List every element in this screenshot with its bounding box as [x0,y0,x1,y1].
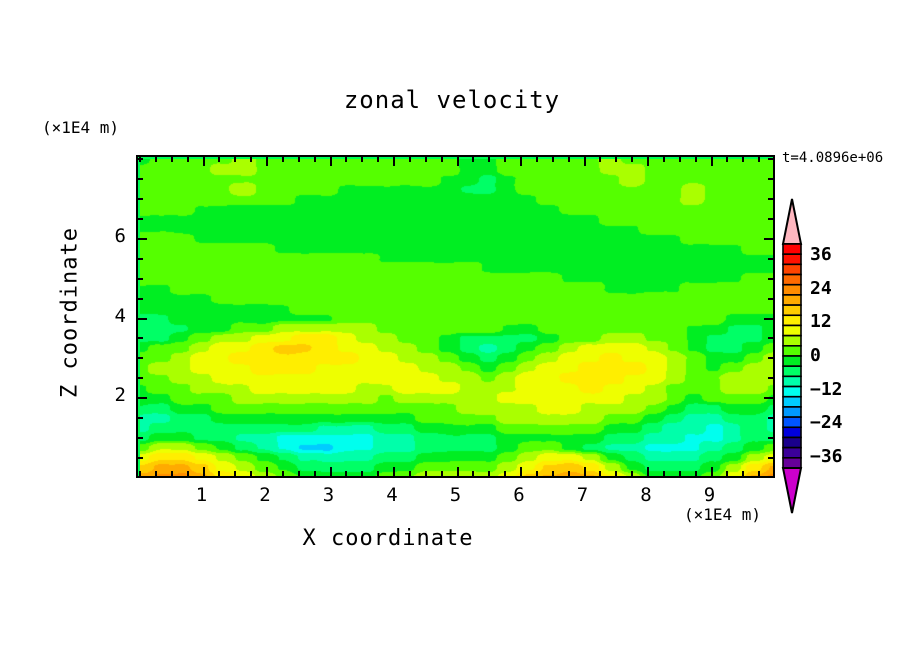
y-tick-label: 6 [96,225,126,247]
y-tick-right [768,258,773,260]
colorbar-tick-label: 12 [810,311,832,332]
y-tick-right [768,218,773,220]
x-tick-bottom [345,471,347,476]
x-tick-bottom [155,471,157,476]
y-tick-right [768,417,773,419]
x-tick-top [250,157,252,162]
x-tick-bottom [599,471,601,476]
colorbar-band [783,336,801,346]
x-tick-bottom [536,471,538,476]
x-tick-top [457,157,459,166]
timestamp-annotation: t=4.0896e+06 [782,150,883,166]
x-tick-bottom [584,467,586,476]
x-tick-top [298,157,300,162]
y-tick-right [768,437,773,439]
x-tick-top [552,157,554,162]
x-tick-label: 5 [436,484,476,506]
colorbar-band [783,346,801,356]
y-tick-left [138,238,147,240]
x-axis-title: X coordinate [0,526,776,551]
colorbar-band [783,295,801,305]
y-tick-left [138,318,147,320]
x-tick-top [599,157,601,162]
y-tick-right [768,178,773,180]
x-tick-top [758,157,760,162]
x-tick-bottom [409,471,411,476]
x-tick-top [472,157,474,162]
x-tick-top [409,157,411,162]
x-tick-top [695,157,697,162]
colorbar-band [783,458,801,468]
y-tick-left [138,258,143,260]
colorbar-tick-label: −24 [810,412,843,433]
x-tick-top [711,157,713,166]
x-tick-top [393,157,395,166]
x-tick-top [663,157,665,162]
x-tick-bottom [520,467,522,476]
x-tick-top [203,157,205,166]
colorbar-svg [781,198,803,514]
x-tick-label: 2 [245,484,285,506]
colorbar-band [783,254,801,264]
y-axis-title: Z coordinate [58,203,83,423]
x-tick-bottom [615,471,617,476]
x-tick-top [266,157,268,166]
x-tick-top [488,157,490,162]
x-tick-bottom [298,471,300,476]
x-tick-top [377,157,379,162]
x-tick-bottom [742,471,744,476]
x-tick-top [647,157,649,166]
y-tick-right [768,377,773,379]
colorbar-band [783,448,801,458]
y-tick-right [768,457,773,459]
x-tick-bottom [679,471,681,476]
x-tick-bottom [457,467,459,476]
colorbar-band [783,376,801,386]
colorbar-band [783,417,801,427]
x-tick-bottom [488,471,490,476]
y-tick-right [768,298,773,300]
x-tick-bottom [139,471,141,476]
y-tick-right [768,158,773,160]
y-tick-left [138,198,143,200]
x-tick-bottom [647,467,649,476]
y-tick-left [138,457,143,459]
colorbar-tick-label: −12 [810,379,843,400]
y-tick-left [138,417,143,419]
x-tick-bottom [361,471,363,476]
y-tick-right [764,238,773,240]
colorbar-band [783,427,801,437]
y-tick-right [768,278,773,280]
x-tick-top [361,157,363,162]
colorbar-tick-label: 24 [810,278,832,299]
x-tick-top [774,157,775,162]
x-tick-bottom [250,471,252,476]
x-tick-top [441,157,443,162]
x-tick-bottom [282,471,284,476]
y-tick-left [138,337,143,339]
x-tick-top [425,157,427,162]
x-tick-bottom [504,471,506,476]
y-tick-left [138,158,143,160]
x-tick-top [520,157,522,166]
x-tick-top [568,157,570,162]
x-tick-bottom [234,471,236,476]
x-tick-bottom [203,467,205,476]
x-tick-label: 8 [626,484,666,506]
zonal-velocity-field [140,159,775,478]
x-tick-bottom [441,471,443,476]
colorbar-band [783,315,801,325]
y-tick-right [764,397,773,399]
x-tick-bottom [552,471,554,476]
x-tick-top [155,157,157,162]
x-tick-bottom [266,467,268,476]
x-tick-bottom [377,471,379,476]
x-tick-label: 4 [372,484,412,506]
x-tick-bottom [393,467,395,476]
colorbar-band [783,244,801,254]
colorbar-tick-label: 36 [810,244,832,265]
y-tick-right [768,357,773,359]
x-tick-top [314,157,316,162]
x-tick-bottom [631,471,633,476]
x-tick-bottom [472,471,474,476]
x-tick-bottom [774,471,775,476]
colorbar-band [783,325,801,335]
x-tick-bottom [711,467,713,476]
y-tick-left [138,178,143,180]
x-tick-bottom [758,471,760,476]
colorbar-band [783,285,801,295]
x-tick-top [345,157,347,162]
colorbar [781,198,803,514]
x-tick-bottom [171,471,173,476]
y-tick-right [768,337,773,339]
x-tick-top [726,157,728,162]
y-tick-right [768,198,773,200]
y-tick-left [138,298,143,300]
x-tick-top [330,157,332,166]
y-tick-left [138,218,143,220]
y-tick-label: 4 [96,305,126,327]
x-tick-top [504,157,506,162]
x-tick-top [742,157,744,162]
x-tick-bottom [695,471,697,476]
x-tick-label: 3 [309,484,349,506]
x-tick-top [218,157,220,162]
y-tick-left [138,278,143,280]
colorbar-band [783,305,801,315]
colorbar-over-arrow [783,199,801,244]
colorbar-band [783,407,801,417]
y-tick-left [138,397,147,399]
colorbar-under-arrow [783,468,801,513]
x-tick-bottom [663,471,665,476]
x-tick-bottom [330,467,332,476]
x-tick-top [584,157,586,166]
x-tick-top [615,157,617,162]
x-tick-label: 6 [499,484,539,506]
x-axis-unit-label: (×1E4 m) [684,505,761,524]
y-tick-left [138,357,143,359]
colorbar-band [783,356,801,366]
x-tick-label: 9 [690,484,730,506]
x-tick-label: 1 [182,484,222,506]
y-tick-left [138,437,143,439]
contour-plot-area [136,155,775,478]
x-tick-top [282,157,284,162]
y-tick-right [768,477,773,478]
x-tick-top [536,157,538,162]
y-tick-label: 2 [96,384,126,406]
x-tick-bottom [218,471,220,476]
y-axis-unit-label: (×1E4 m) [42,118,119,137]
x-tick-top [631,157,633,162]
colorbar-tick-label: 0 [810,345,821,366]
colorbar-band [783,264,801,274]
colorbar-band [783,366,801,376]
colorbar-tick-label: −36 [810,446,843,467]
colorbar-band [783,275,801,285]
x-tick-top [234,157,236,162]
x-tick-bottom [187,471,189,476]
colorbar-band [783,387,801,397]
page-title: zonal velocity [0,86,904,114]
x-tick-top [679,157,681,162]
x-tick-bottom [568,471,570,476]
x-tick-label: 7 [563,484,603,506]
y-tick-left [138,477,143,478]
x-tick-bottom [314,471,316,476]
colorbar-band [783,397,801,407]
x-tick-bottom [425,471,427,476]
colorbar-band [783,437,801,447]
y-tick-right [764,318,773,320]
y-tick-left [138,377,143,379]
x-tick-bottom [726,471,728,476]
x-tick-top [171,157,173,162]
x-tick-top [187,157,189,162]
